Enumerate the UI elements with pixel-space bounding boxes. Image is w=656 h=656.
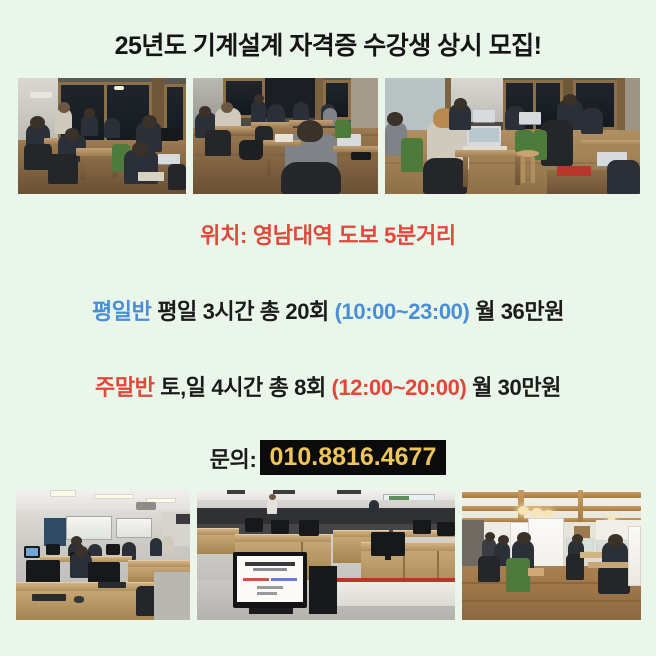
photo-bottom-1 — [16, 490, 190, 620]
weekend-hours: (12:00~20:00) — [332, 375, 467, 400]
weekday-schedule: 평일 3시간 총 20회 — [157, 299, 329, 324]
promo-poster: { "poster": { "background_color": "#eaf6… — [0, 0, 656, 656]
photo-top-1 — [18, 78, 186, 194]
weekday-hours: (10:00~23:00) — [335, 299, 470, 324]
weekend-tag: 주말반 — [95, 375, 155, 400]
weekday-tag: 평일반 — [92, 299, 152, 324]
weekday-class-line: 평일반 평일 3시간 총 20회 (10:00~23:00) 월 36만원 — [0, 294, 656, 326]
photo-row-top — [18, 78, 640, 194]
photo-top-2 — [193, 78, 378, 194]
weekend-schedule: 토,일 4시간 총 8회 — [160, 375, 326, 400]
photo-row-bottom — [16, 490, 641, 620]
contact-block: 문의:010.8816.4677 — [0, 440, 656, 475]
weekday-price: 월 36만원 — [475, 299, 564, 324]
location-text: 위치: 영남대역 도보 5분거리 — [0, 218, 656, 250]
weekend-class-line: 주말반 토,일 4시간 총 8회 (12:00~20:00) 월 30만원 — [0, 370, 656, 402]
photo-top-3 — [385, 78, 640, 194]
photo-bottom-2 — [197, 490, 455, 620]
contact-label: 문의: — [210, 442, 260, 474]
page-title: 25년도 기계설계 자격증 수강생 상시 모집! — [0, 26, 656, 62]
phone-number[interactable]: 010.8816.4677 — [260, 440, 447, 475]
weekend-price: 월 30만원 — [472, 375, 561, 400]
photo-bottom-3 — [462, 490, 641, 620]
